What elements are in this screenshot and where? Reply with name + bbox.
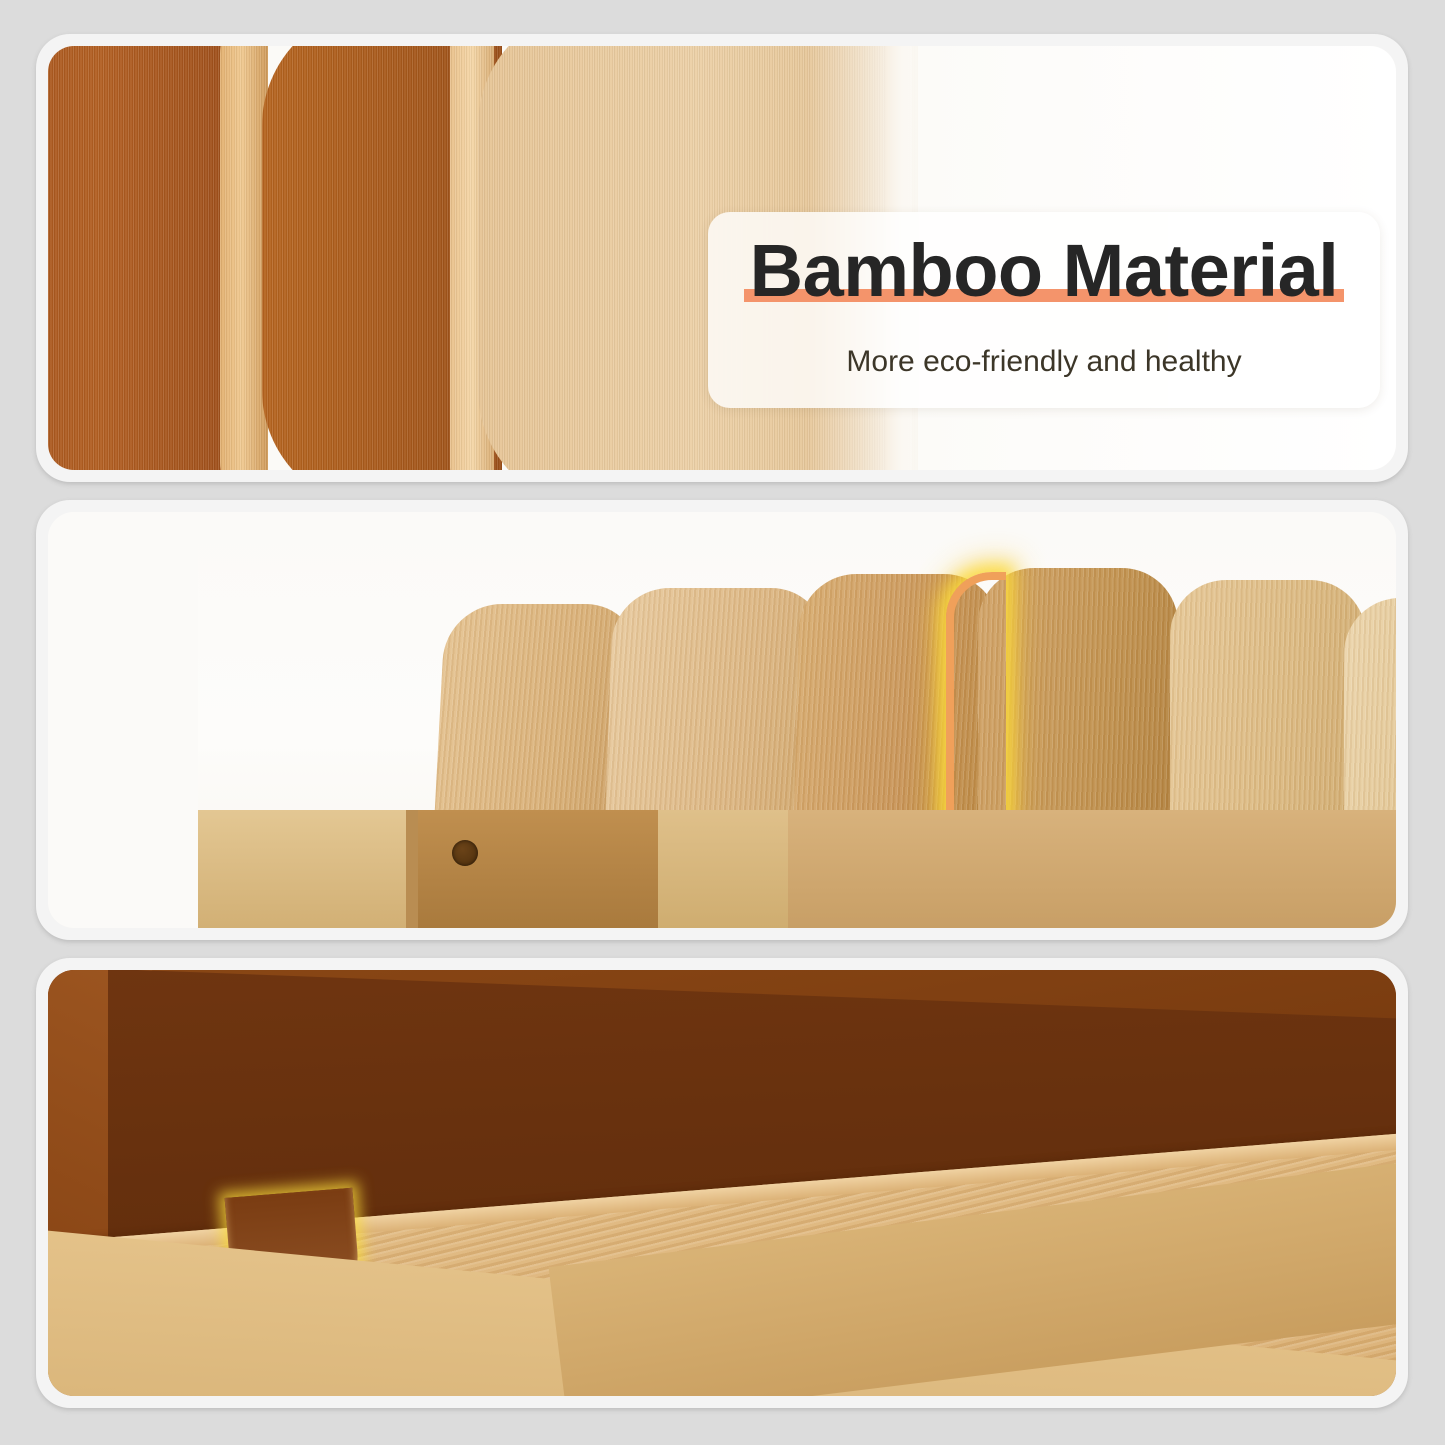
wood-grain-texture: [220, 46, 268, 470]
feature-panel-bamboo-material: Bamboo Material More eco-friendly and he…: [36, 34, 1408, 482]
bamboo-board-dark: [48, 46, 238, 470]
base-segment-dark: [418, 810, 658, 928]
panel-photo-frame: Drawer handles Handles designed at the b…: [48, 970, 1396, 1396]
feature-panel-drawer-handles: Drawer handles Handles designed at the b…: [36, 958, 1408, 1408]
infographic-stage: Bamboo Material More eco-friendly and he…: [0, 0, 1445, 1445]
panel-subtitle: More eco-friendly and healthy: [708, 344, 1380, 381]
screw-hole: [452, 840, 478, 866]
product-photo-drawer-handle: [48, 970, 1396, 1396]
panel-title: Bamboo Material: [750, 234, 1339, 308]
base-segment-light-2: [658, 810, 788, 928]
feature-panel-smooth-design: Smooth design Attention to detail in scr…: [36, 500, 1408, 940]
product-photo-bamboo-dividers: [48, 512, 1396, 928]
feature-text-card-bamboo-material: Bamboo Material More eco-friendly and he…: [708, 212, 1380, 408]
wood-grain-texture: [48, 46, 238, 470]
panel-photo-frame: Smooth design Attention to detail in scr…: [48, 512, 1396, 928]
organizer-base-panel: [188, 810, 1396, 928]
panel-title-text: Bamboo Material: [750, 229, 1339, 312]
base-joint-line: [406, 810, 418, 928]
photo-white-fade-left: [48, 512, 198, 928]
base-segment-light: [188, 810, 406, 928]
bamboo-board-edge-light-1: [220, 46, 268, 470]
panel-photo-frame: Bamboo Material More eco-friendly and he…: [48, 46, 1396, 470]
